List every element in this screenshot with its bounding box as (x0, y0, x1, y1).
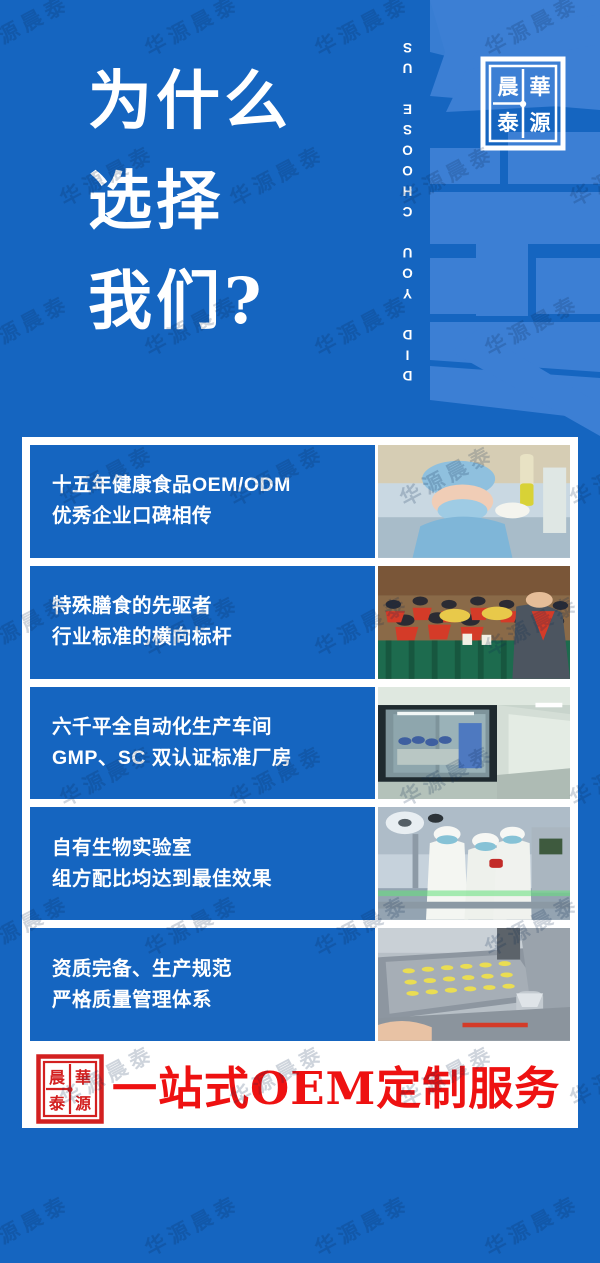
watermark-text: 华源晨泰 (479, 1187, 585, 1262)
feature-item[interactable]: 自有生物实验室组方配比均达到最佳效果 (30, 807, 570, 920)
photo-tablet-packaging-machine (378, 928, 570, 1041)
feature-text-line: 特殊膳食的先驱者 (52, 591, 375, 622)
hero-vertical-subtitle: DID YOU CHOOSE US (400, 14, 426, 404)
hero-section: 为什么 选择 我们? DID YOU CHOOSE US 晨 泰 華 源 (0, 0, 600, 437)
page-title-line-3: 我们? (88, 252, 388, 352)
feature-text-line: GMP、SC 双认证标准厂房 (52, 743, 375, 774)
svg-text:晨: 晨 (498, 74, 520, 99)
feature-text-line: 十五年健康食品OEM/ODM (52, 470, 375, 501)
feature-text: 特殊膳食的先驱者行业标准的横向标杆 (30, 566, 375, 679)
page-title-line-2: 选择 (88, 152, 388, 252)
feature-text-line: 六千平全自动化生产车间 (52, 712, 375, 743)
feature-item[interactable]: 特殊膳食的先驱者行业标准的横向标杆 (30, 566, 570, 679)
photo-conference-audience (378, 566, 570, 679)
features-panel: 十五年健康食品OEM/ODM优秀企业口碑相传 特殊膳食的先驱者行业标准的横向标杆 (22, 437, 578, 1049)
feature-text-line: 组方配比均达到最佳效果 (52, 864, 375, 895)
svg-text:華: 華 (75, 1068, 91, 1087)
feature-text-line: 严格质量管理体系 (52, 985, 375, 1016)
svg-text:源: 源 (530, 110, 551, 135)
company-seal-white: 晨 泰 華 源 (480, 56, 566, 151)
feature-text-line: 优秀企业口碑相传 (52, 501, 375, 532)
photo-cleanroom-corridor (378, 687, 570, 800)
banner-headline: 一站式OEM定制服务 (112, 1066, 560, 1111)
photo-production-line-workers (378, 807, 570, 920)
svg-text:源: 源 (75, 1094, 91, 1113)
page-title-line-1: 为什么 (88, 52, 388, 152)
feature-item[interactable]: 六千平全自动化生产车间GMP、SC 双认证标准厂房 (30, 687, 570, 800)
feature-text-line: 自有生物实验室 (52, 833, 375, 864)
feature-text: 自有生物实验室组方配比均达到最佳效果 (30, 807, 375, 920)
watermark-text: 华源晨泰 (309, 1187, 415, 1262)
page-title: 为什么 选择 我们? (88, 52, 388, 352)
feature-item[interactable]: 资质完备、生产规范严格质量管理体系 (30, 928, 570, 1041)
feature-item[interactable]: 十五年健康食品OEM/ODM优秀企业口碑相传 (30, 445, 570, 558)
photo-lab-technician-pipetting (378, 445, 570, 558)
feature-list: 十五年健康食品OEM/ODM优秀企业口碑相传 特殊膳食的先驱者行业标准的横向标杆 (30, 445, 570, 1041)
feature-text: 六千平全自动化生产车间GMP、SC 双认证标准厂房 (30, 687, 375, 800)
feature-text-line: 行业标准的横向标杆 (52, 622, 375, 653)
bottom-banner: 晨 泰 華 源 一站式OEM定制服务 (22, 1049, 578, 1128)
company-seal-red: 晨 泰 華 源 (36, 1054, 104, 1124)
watermark-text: 华源晨泰 (0, 1187, 75, 1262)
svg-text:晨: 晨 (49, 1068, 66, 1087)
watermark-text: 华源晨泰 (139, 1187, 245, 1262)
feature-text: 资质完备、生产规范严格质量管理体系 (30, 928, 375, 1041)
svg-text:泰: 泰 (497, 110, 520, 135)
feature-text-line: 资质完备、生产规范 (52, 954, 375, 985)
feature-text: 十五年健康食品OEM/ODM优秀企业口碑相传 (30, 445, 375, 558)
svg-text:泰: 泰 (48, 1094, 66, 1113)
svg-text:華: 華 (530, 74, 551, 99)
